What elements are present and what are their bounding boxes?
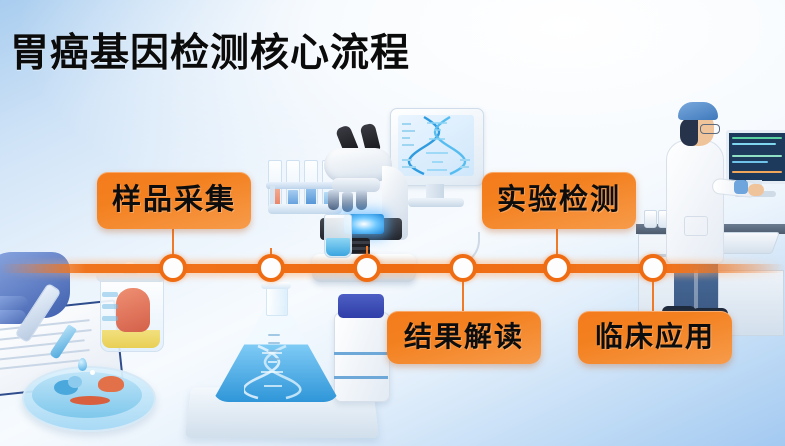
petri-dish-liquid-icon	[32, 372, 142, 418]
step-clinical-application-chip[interactable]: 临床应用	[578, 311, 732, 364]
step-result-interpretation-chip[interactable]: 结果解读	[387, 311, 541, 364]
reagent-bottle-icon	[334, 312, 390, 402]
bottle-cap-icon	[338, 294, 384, 318]
lab-coat-icon	[666, 140, 724, 264]
microscope-illustration	[262, 104, 484, 264]
timeline-node-5[interactable]	[543, 254, 571, 282]
hair-icon	[680, 118, 698, 146]
small-beaker-icon	[324, 214, 352, 258]
coat-pocket-icon	[684, 216, 708, 236]
bubble-icon	[90, 370, 95, 375]
slide-canvas: 胃癌基因检测核心流程	[0, 0, 785, 446]
sleeve-cuff-icon	[734, 180, 748, 194]
cell-sample-icon	[68, 376, 82, 388]
connector-step-lab-testing	[556, 228, 558, 270]
page-title: 胃癌基因检测核心流程	[10, 22, 410, 78]
hand-icon	[748, 184, 764, 196]
jar-knob-icon	[122, 262, 138, 274]
step-sample-collection-chip[interactable]: 样品采集	[97, 172, 251, 229]
cell-sample-icon	[70, 396, 110, 405]
surgical-cap-icon	[678, 102, 718, 120]
monitor-base-icon	[408, 198, 464, 207]
connector-step-result-interpretation	[462, 268, 464, 312]
step-sample-collection-label: 样品采集	[112, 186, 236, 215]
step-lab-testing-label: 实验检测	[497, 186, 621, 215]
microscope-icon	[306, 126, 416, 246]
liquid-drop-icon	[78, 358, 87, 371]
jar-liquid-icon	[102, 330, 160, 348]
step-result-interpretation-label: 结果解读	[404, 324, 524, 352]
step-clinical-application-label: 临床应用	[595, 324, 715, 352]
stomach-specimen-icon	[116, 288, 150, 332]
sampling-illustration	[0, 262, 204, 446]
reagent-bottle-icon	[644, 210, 657, 228]
workstation-illustration	[636, 84, 785, 312]
glasses-icon	[700, 124, 720, 134]
dna-helix-icon	[244, 344, 304, 400]
lab-illustration	[182, 282, 382, 446]
leg-split-icon	[694, 270, 698, 312]
step-lab-testing-chip[interactable]: 实验检测	[482, 172, 636, 229]
flask-lip-icon	[261, 282, 291, 289]
cell-sample-icon	[98, 376, 124, 392]
ecg-monitor-icon	[726, 130, 785, 184]
flask-neck-icon	[266, 286, 288, 316]
monitor-cable-icon	[380, 232, 480, 266]
